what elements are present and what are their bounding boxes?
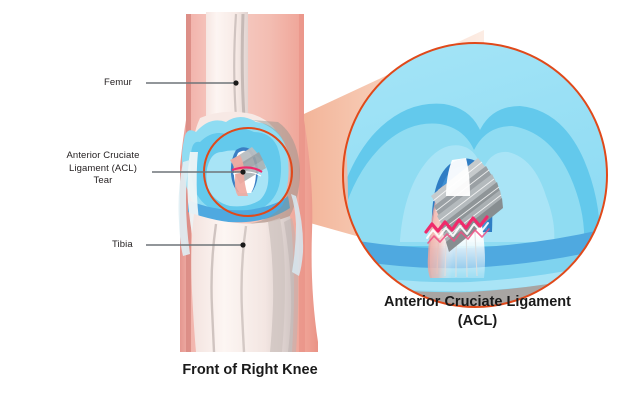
label-acl-tear: Anterior Cruciate Ligament (ACL) Tear xyxy=(57,150,149,188)
caption-front-of-right-knee: Front of Right Knee xyxy=(145,361,355,380)
caption-anterior-cruciate-ligament: Anterior Cruciate Ligament (ACL) xyxy=(335,293,620,331)
acl-tear-illustration: Femur Anterior Cruciate Ligament (ACL) T… xyxy=(0,0,640,400)
label-femur: Femur xyxy=(104,77,132,90)
leader-dot-femur xyxy=(233,80,238,85)
label-tibia: Tibia xyxy=(112,239,133,252)
leader-dot-tibia xyxy=(240,242,245,247)
leader-lines-layer xyxy=(0,0,640,400)
leader-dot-acl xyxy=(240,169,245,174)
